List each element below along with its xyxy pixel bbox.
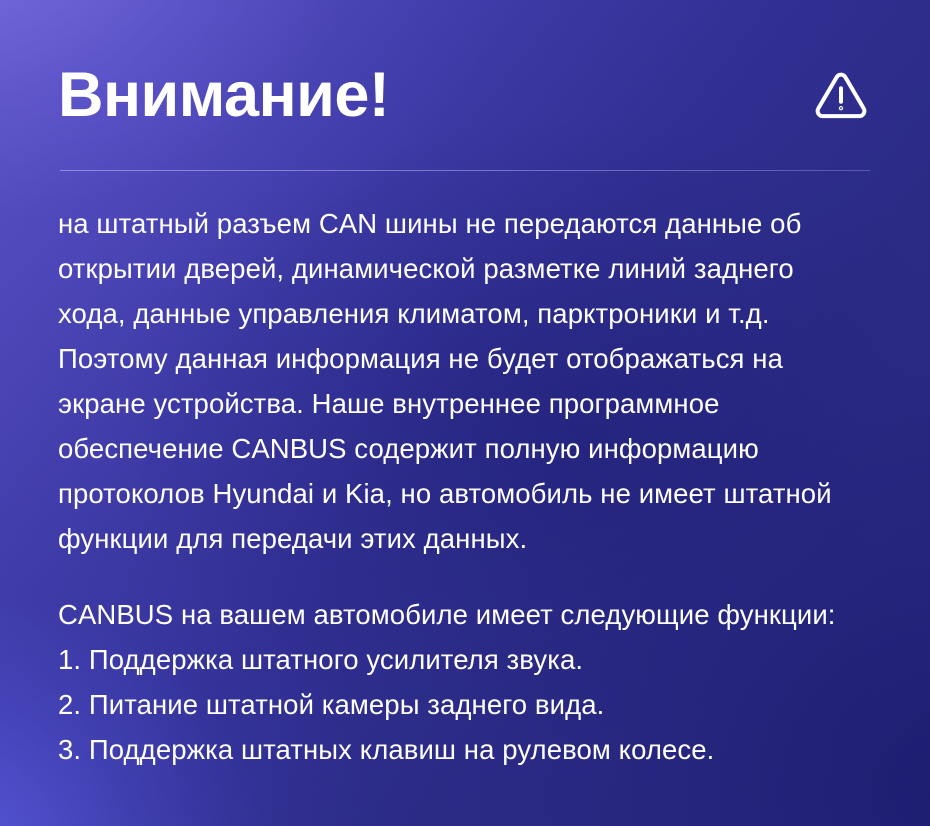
warning-banner: Внимание! на штатный разъем CAN шины не … (0, 0, 930, 826)
header-divider (60, 170, 870, 171)
notice-line: обеспечение CANBUS содержит полную инфор… (58, 426, 888, 471)
notice-line: функции для передачи этих данных. (58, 516, 888, 561)
list-item: 1. Поддержка штатного усилителя звука. (58, 637, 888, 682)
list-item: 2. Питание штатной камеры заднего вида. (58, 682, 888, 727)
notice-line: протоколов Hyundai и Kia, но автомобиль … (58, 471, 888, 516)
notice-line: открытии дверей, динамической разметке л… (58, 246, 888, 291)
page-title: Внимание! (58, 64, 389, 127)
notice-line: экране устройства. Наше внутреннее прогр… (58, 381, 888, 426)
banner-header: Внимание! (58, 52, 872, 138)
list-item: 3. Поддержка штатных клавиш на рулевом к… (58, 727, 888, 772)
features-block: CANBUS на вашем автомобиле имеет следующ… (58, 592, 888, 772)
warning-triangle-icon (812, 66, 870, 124)
features-list: 1. Поддержка штатного усилителя звука. 2… (58, 637, 888, 772)
notice-line: Поэтому данная информация не будет отобр… (58, 336, 888, 381)
notice-line: на штатный разъем CAN шины не передаются… (58, 201, 888, 246)
notice-paragraph: на штатный разъем CAN шины не передаются… (58, 201, 888, 561)
features-intro: CANBUS на вашем автомобиле имеет следующ… (58, 592, 888, 637)
notice-line: хода, данные управления климатом, парктр… (58, 291, 888, 336)
notice-paragraph-block: на штатный разъем CAN шины не передаются… (58, 201, 888, 561)
